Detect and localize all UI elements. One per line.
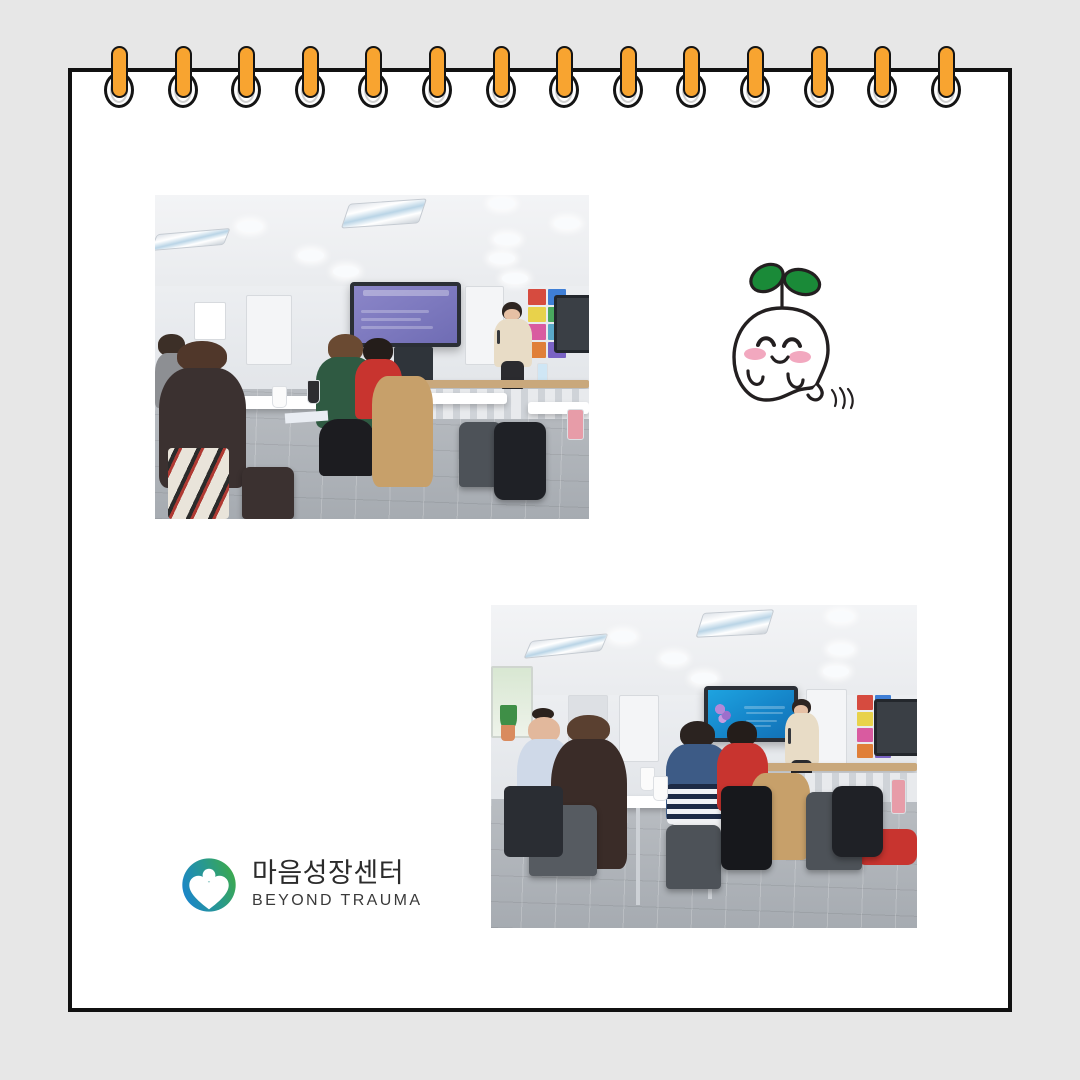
logo-english-name: BEYOND TRAUMA	[252, 891, 422, 910]
downlight	[691, 673, 717, 684]
sprout-ghost-mascot	[722, 258, 862, 431]
backpack	[494, 422, 546, 500]
downlight	[502, 273, 528, 284]
spiral-ring-pill	[238, 46, 255, 98]
paper-cup	[653, 776, 668, 801]
spiral-ring-pill	[620, 46, 637, 98]
counter-top	[747, 763, 917, 771]
downlight	[610, 631, 636, 642]
seminar-photo-wide-room[interactable]	[155, 195, 589, 519]
chair	[666, 825, 721, 890]
paper-cup	[272, 386, 287, 407]
door	[246, 295, 291, 365]
spiral-ring-pill	[302, 46, 319, 98]
spiral-ring	[740, 46, 770, 108]
photo-2-scene	[491, 605, 917, 928]
spiral-ring	[676, 46, 706, 108]
downlight	[554, 218, 580, 229]
brand-logo: 마음성장센터 BEYOND TRAUMA	[180, 856, 422, 914]
spiral-ring-pill	[429, 46, 446, 98]
logo-mark-icon	[180, 856, 238, 914]
fluorescent-light	[695, 610, 774, 638]
spiral-ring-pill	[938, 46, 955, 98]
logo-text-block: 마음성장센터 BEYOND TRAUMA	[252, 859, 422, 910]
chair	[242, 467, 294, 519]
spiral-ring-pill	[683, 46, 700, 98]
spiral-ring-pill	[811, 46, 828, 98]
backpack	[832, 786, 883, 857]
mascot-svg	[722, 258, 862, 426]
tumbler	[567, 409, 584, 440]
pot-decal	[501, 725, 515, 741]
spiral-ring	[231, 46, 261, 108]
spiral-ring	[549, 46, 579, 108]
scarf	[168, 448, 229, 519]
spiral-ring-pill	[493, 46, 510, 98]
coat-draped	[504, 786, 564, 857]
spiral-ring	[486, 46, 516, 108]
spiral-ring	[104, 46, 134, 108]
photo-1-scene	[155, 195, 589, 519]
poster-canvas: 마음성장센터 BEYOND TRAUMA	[0, 0, 1080, 1080]
spiral-ring-pill	[111, 46, 128, 98]
slide-bullet	[361, 310, 429, 313]
spiral-ring	[867, 46, 897, 108]
wall-monitor	[554, 295, 589, 353]
mascot-motion-line	[848, 389, 853, 408]
mascot-motion-line	[832, 390, 836, 406]
slide-bullet	[361, 326, 433, 329]
spiral-ring-pill	[365, 46, 382, 98]
wall-monitor	[874, 699, 917, 757]
spiral-ring	[358, 46, 388, 108]
slide-headline	[746, 712, 784, 715]
slide-headline	[744, 706, 785, 709]
downlight	[494, 234, 520, 245]
wall-notice	[194, 302, 226, 340]
tumbler	[891, 779, 906, 813]
spiral-ring	[931, 46, 961, 108]
mascot-blush-right	[789, 351, 811, 363]
mascot-leaf-right	[781, 266, 822, 299]
mascot-blush-left	[744, 348, 766, 360]
tumbler	[307, 380, 320, 405]
slide-bullet	[361, 318, 421, 321]
spiral-ring-pill	[874, 46, 891, 98]
downlight	[828, 644, 854, 655]
coat-on-chair	[721, 786, 772, 870]
logo-korean-name: 마음성장센터	[252, 859, 422, 888]
spiral-ring-pill	[556, 46, 573, 98]
spiral-ring	[613, 46, 643, 108]
mascot-motion-line	[840, 388, 845, 408]
spiral-ring	[422, 46, 452, 108]
spiral-ring-pill	[747, 46, 764, 98]
table-leg	[636, 808, 640, 905]
spiral-ring	[295, 46, 325, 108]
participant	[372, 376, 433, 486]
presenter	[494, 302, 533, 389]
slide-title-bar	[363, 290, 449, 295]
spiral-ring-pill	[175, 46, 192, 98]
spiral-ring	[804, 46, 834, 108]
spiral-ring	[168, 46, 198, 108]
seminar-photo-group-table[interactable]	[491, 605, 917, 928]
